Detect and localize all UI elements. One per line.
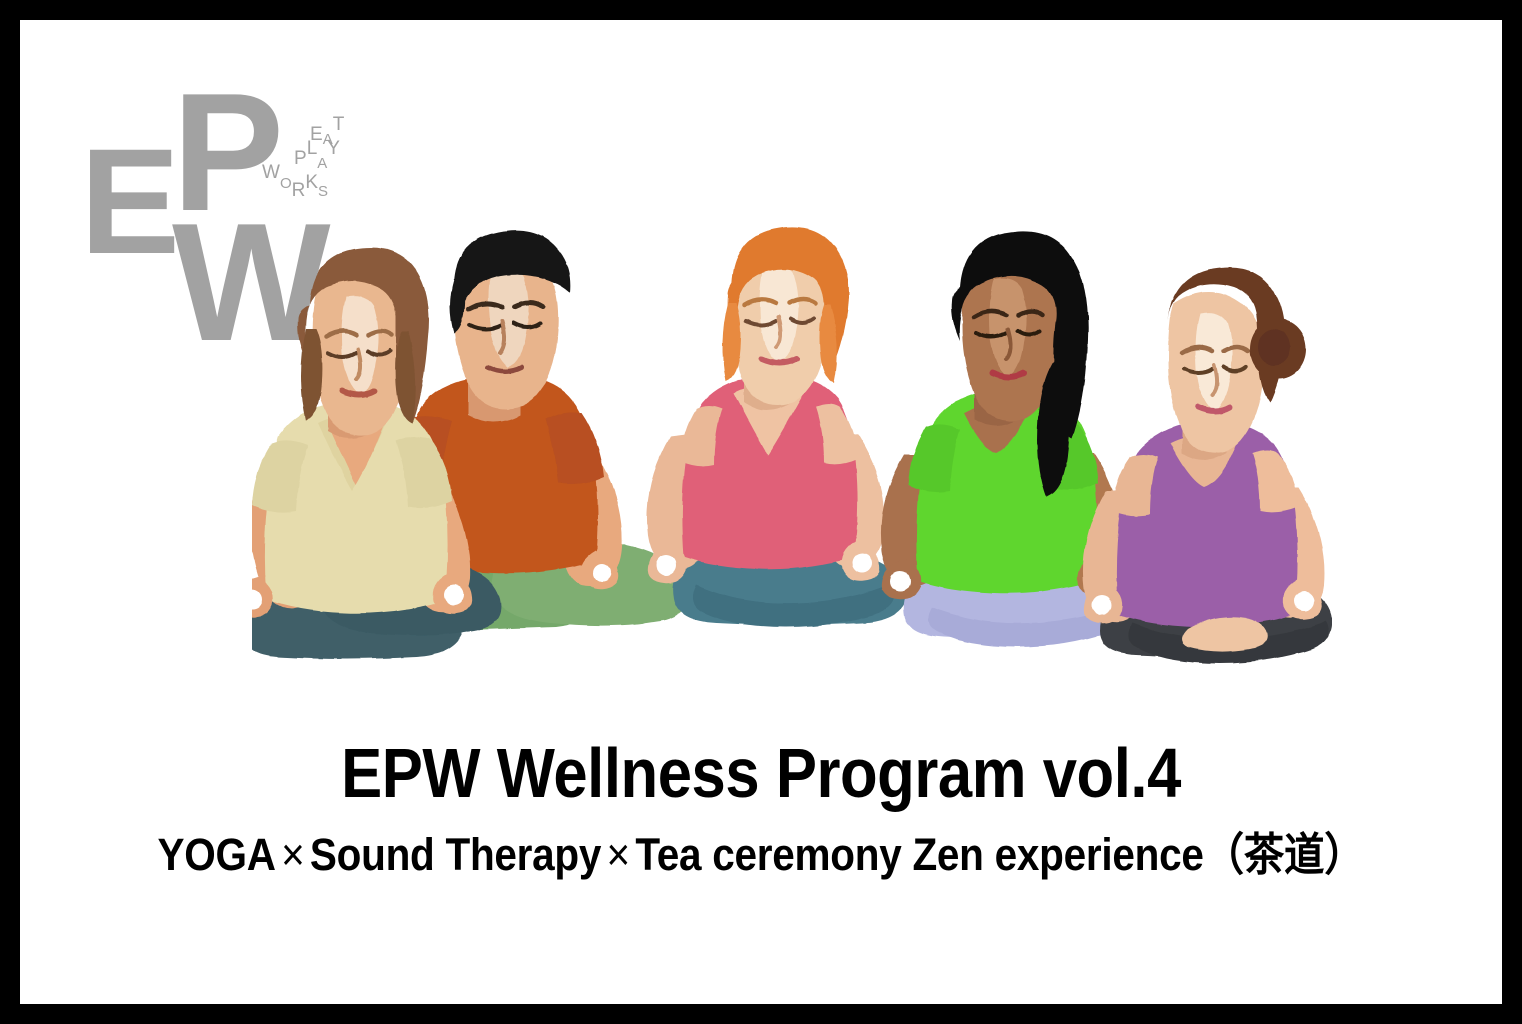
tagline-letter: K: [305, 173, 318, 192]
tagline-letter: R: [292, 181, 306, 200]
tagline-letter: W: [262, 163, 280, 182]
text-block: EPW Wellness Program vol.4 YOGA×Sound Th…: [20, 738, 1502, 879]
page-subtitle: YOGA×Sound Therapy×Tea ceremony Zen expe…: [94, 831, 1428, 878]
subtitle-part-tea-ceremony: Tea ceremony Zen experience（茶道）: [635, 829, 1364, 880]
poster-frame: E P W EAT PLAY WORKS: [0, 0, 1522, 1024]
subtitle-part-sound-therapy: Sound Therapy: [310, 829, 601, 880]
subtitle-part-yoga: YOGA: [158, 829, 276, 880]
logo-tagline-works: WORKS: [262, 168, 328, 187]
meditation-illustration-svg: [252, 225, 1332, 695]
tagline-letter: P: [294, 149, 307, 168]
figure-3: [647, 227, 907, 627]
logo-letter-e: E: [80, 126, 178, 276]
logo-tagline-play: PLAY: [294, 144, 340, 163]
tagline-letter: S: [318, 184, 328, 199]
subtitle-separator: ×: [601, 829, 635, 880]
poster-canvas: E P W EAT PLAY WORKS: [20, 20, 1502, 1004]
tagline-letter: Y: [327, 139, 340, 158]
tagline-letter: L: [307, 139, 318, 158]
logo-tagline: EAT PLAY WORKS: [262, 110, 382, 200]
logo-tagline-eat: EAT: [310, 120, 344, 139]
tagline-letter: O: [280, 176, 292, 191]
tagline-letter: T: [333, 115, 345, 134]
figure-5: [1083, 267, 1332, 663]
subtitle-separator: ×: [276, 829, 310, 880]
page-title: EPW Wellness Program vol.4: [109, 738, 1413, 809]
meditation-illustration: [252, 225, 1332, 695]
